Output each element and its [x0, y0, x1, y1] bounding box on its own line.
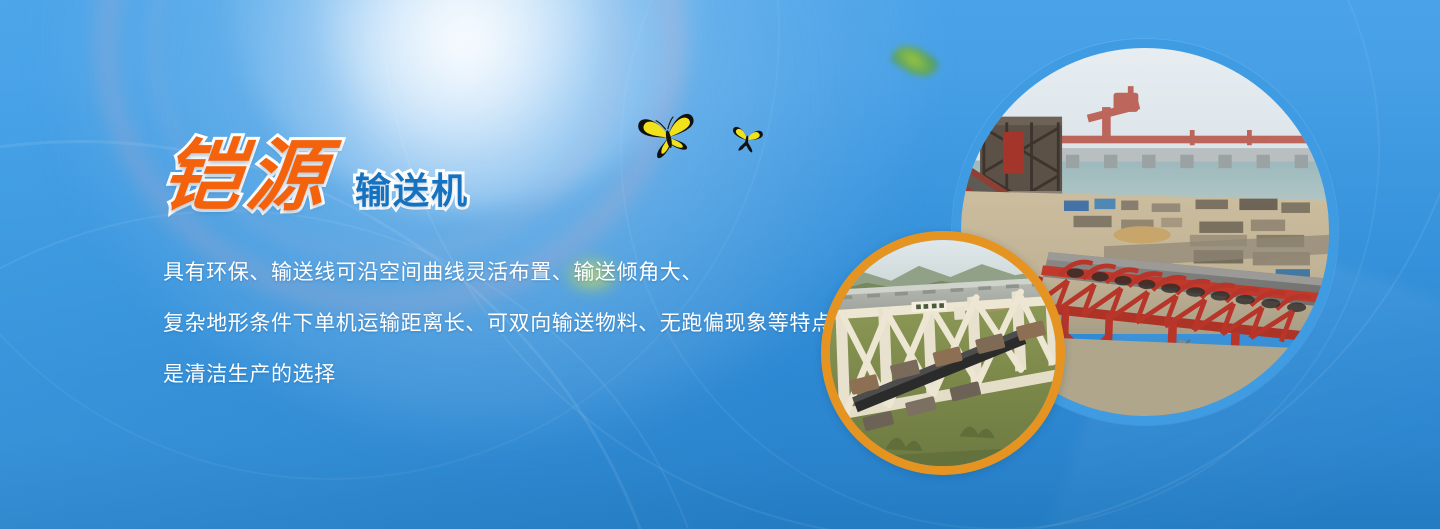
- product-name: 输送机: [355, 174, 469, 216]
- description-line-2: 复杂地形条件下单机运输距离长、可双向输送物料、无跑偏现象等特点，: [163, 313, 883, 334]
- description-line-1: 具有环保、输送线可沿空间曲线灵活布置、输送倾角大、: [163, 262, 883, 283]
- brand-name: 铠源: [159, 138, 335, 216]
- leaf-icon: [889, 38, 940, 84]
- title-row: 铠源 输送机: [163, 138, 883, 216]
- banner-copy: 铠源 输送机 具有环保、输送线可沿空间曲线灵活布置、输送倾角大、 复杂地形条件下…: [163, 138, 883, 385]
- hero-banner: 铠源 输送机 具有环保、输送线可沿空间曲线灵活布置、输送倾角大、 复杂地形条件下…: [0, 0, 1440, 529]
- hillside-conveyor-photo: [821, 231, 1065, 475]
- bottom-shade: [0, 439, 1440, 529]
- description-line-3: 是清洁生产的选择: [163, 364, 883, 385]
- description-block: 具有环保、输送线可沿空间曲线灵活布置、输送倾角大、 复杂地形条件下单机运输距离长…: [163, 262, 883, 385]
